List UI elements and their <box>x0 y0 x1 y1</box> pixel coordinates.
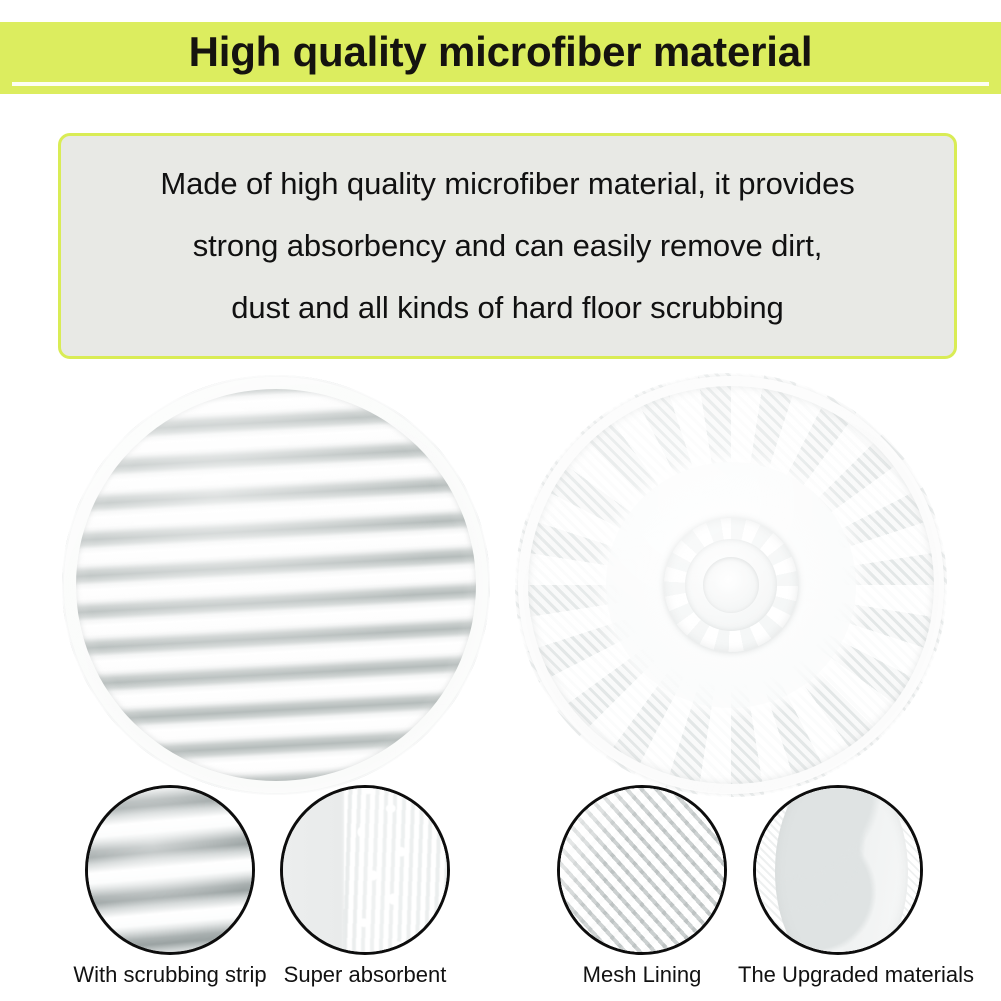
detail-caption-the-upgraded-materials: The Upgraded materials <box>738 962 938 988</box>
detail-circle-mesh-lining <box>557 785 727 955</box>
detail-circle-with-scrubbing-strip <box>85 785 255 955</box>
description-line-3: dust and all kinds of hard floor scrubbi… <box>231 277 783 339</box>
page-title: High quality microfiber material <box>0 22 1001 84</box>
description-line-2: strong absorbency and can easily remove … <box>193 215 823 277</box>
texture-mesh-lining <box>557 785 727 955</box>
detail-circle-the-upgraded-materials <box>753 785 923 955</box>
mesh-stitched-rim <box>518 376 944 794</box>
detail-caption-mesh-lining: Mesh Lining <box>542 962 742 988</box>
texture-scrubbing-stripes <box>85 785 255 955</box>
detail-item-mesh-lining: Mesh Lining <box>542 785 742 988</box>
mesh-inner-ring <box>606 462 857 708</box>
product-image-mesh-backed-mop-pad <box>515 373 947 797</box>
texture-absorbent-fibers <box>280 785 450 955</box>
header-banner: High quality microfiber material <box>0 22 1001 94</box>
detail-caption-super-absorbent: Super absorbent <box>265 962 465 988</box>
detail-circle-super-absorbent <box>280 785 450 955</box>
header-divider <box>12 82 989 86</box>
detail-item-with-scrubbing-strip: With scrubbing strip <box>70 785 270 988</box>
plastic-hub-mid-ring <box>685 539 777 631</box>
detail-callout-row: With scrubbing strip Super absorbent Mes… <box>0 780 1001 1001</box>
detail-item-super-absorbent: Super absorbent <box>265 785 465 988</box>
detail-caption-with-scrubbing-strip: With scrubbing strip <box>70 962 270 988</box>
description-panel: Made of high quality microfiber material… <box>58 133 957 359</box>
texture-plastic-hub <box>753 785 923 955</box>
plastic-hub-core <box>703 557 759 613</box>
plastic-hub <box>664 518 798 652</box>
product-image-striped-microfiber-mop-pad <box>62 375 490 795</box>
description-line-1: Made of high quality microfiber material… <box>160 153 854 215</box>
pad-stitched-rim <box>64 377 488 793</box>
detail-item-the-upgraded-materials: The Upgraded materials <box>738 785 938 988</box>
product-image-stage <box>0 365 1001 795</box>
